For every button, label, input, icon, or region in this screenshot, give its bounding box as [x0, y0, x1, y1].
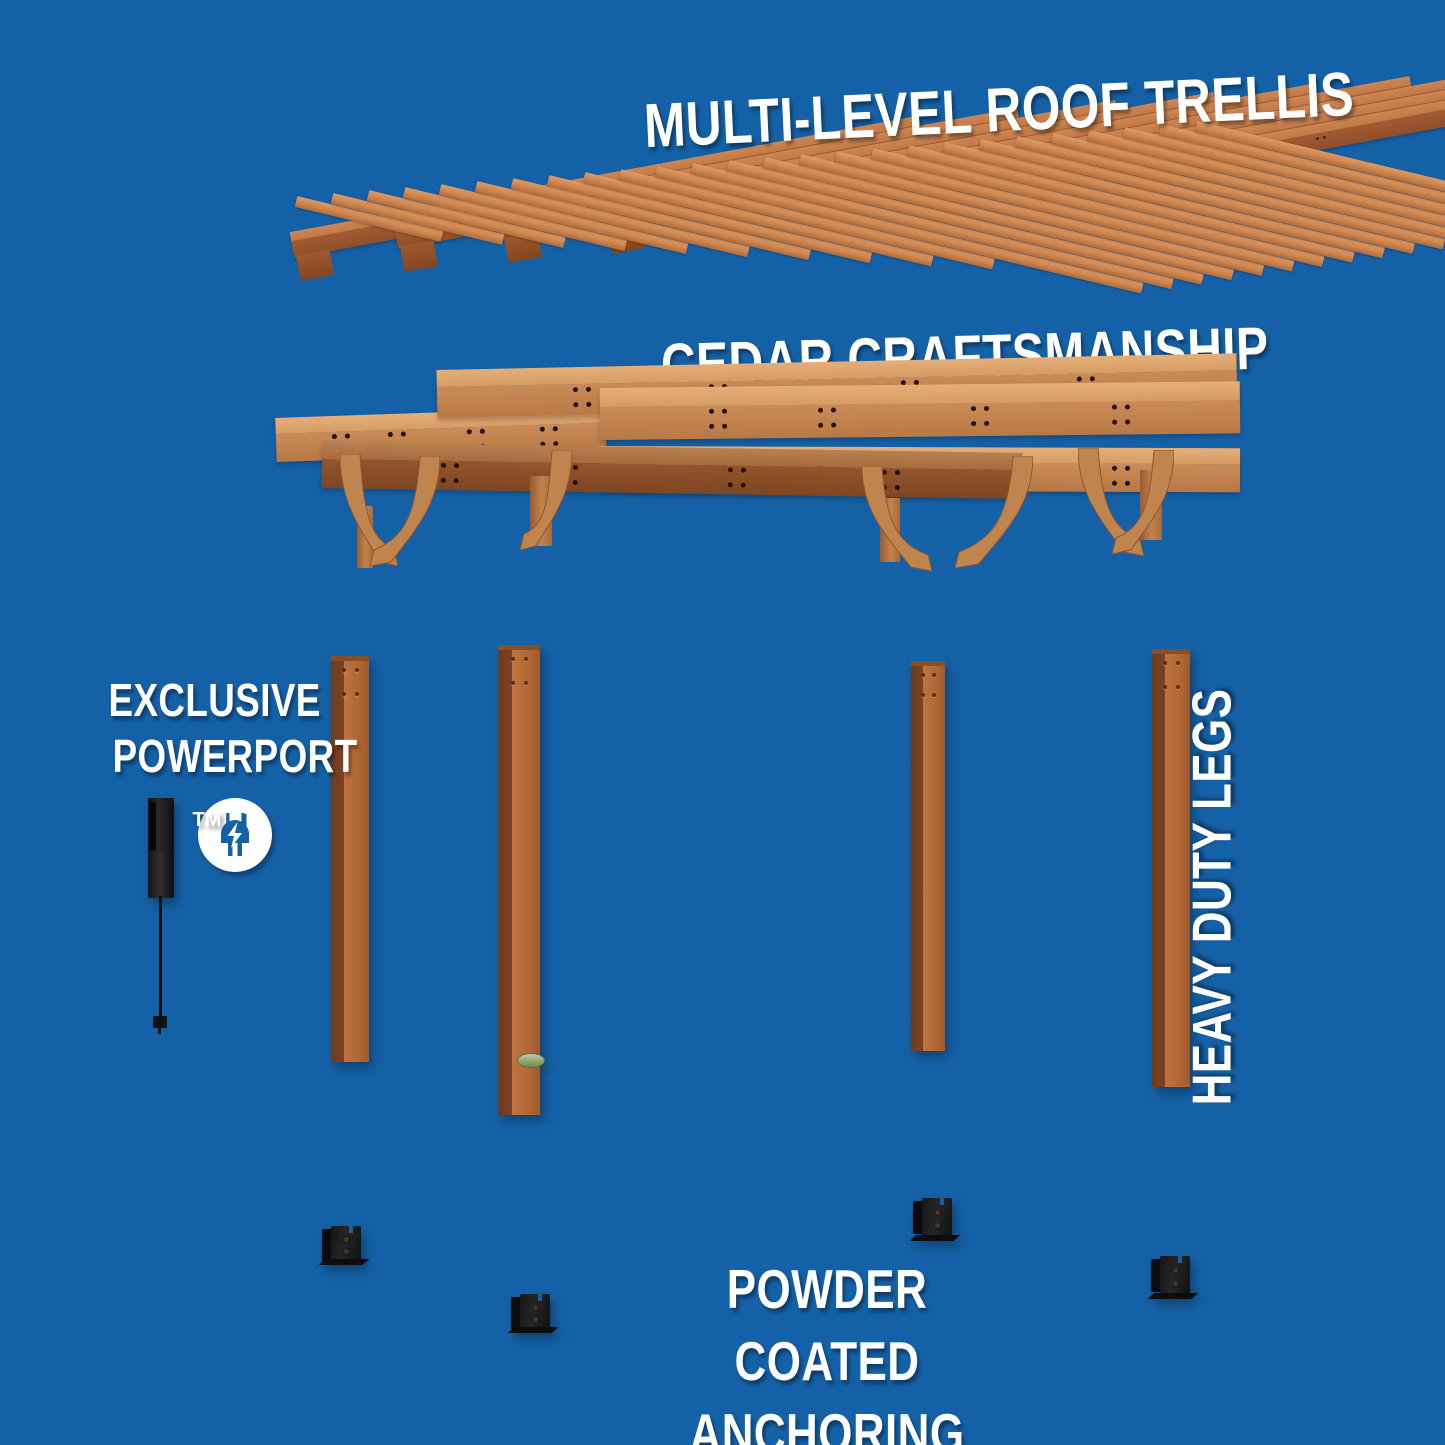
- beam-front-face: [600, 400, 1240, 440]
- beam-bolt: [1112, 419, 1117, 424]
- anchor-plate-bolt: [533, 1305, 538, 1310]
- rafter-notch: [400, 240, 438, 272]
- anchor-plate-bolt: [1173, 1281, 1178, 1286]
- callout-heavy-duty-legs-text: HEAVY DUTY LEGS: [1179, 689, 1243, 1106]
- post-shadow-face: [911, 661, 923, 1051]
- post-shadow-face: [1152, 649, 1165, 1087]
- beam-bolt: [831, 422, 836, 427]
- beam-bolt: [722, 409, 727, 414]
- callout-heavy-duty-legs: HEAVY DUTY LEGS: [1179, 637, 1243, 1158]
- beam-bolt: [971, 421, 976, 426]
- cedar-beam-assembly: [0, 330, 1445, 580]
- trademark-symbol: TM: [193, 809, 222, 831]
- beam-bolt: [709, 409, 714, 414]
- beam-bolt: [818, 422, 823, 427]
- callout-powerport-line2: POWERPORT: [113, 728, 358, 784]
- power-port-cord: [159, 896, 162, 1022]
- anchor-plate-bolt: [344, 1249, 349, 1254]
- post-top-cap: [911, 661, 945, 666]
- callout-anchor-line1: POWDER COATED: [655, 1253, 999, 1397]
- post-top-cap: [331, 656, 369, 661]
- anchoring-plate: [913, 1198, 963, 1244]
- anchor-plate-bolt: [533, 1317, 538, 1322]
- callout-anchor-line2: ANCHORING PLATES: [655, 1397, 999, 1445]
- beam-bolt: [722, 423, 727, 428]
- anchor-plate-body: [520, 1294, 550, 1330]
- callout-powerport-line1: EXCLUSIVE: [109, 672, 321, 728]
- beam-bolt: [984, 421, 989, 426]
- anchor-plate-body: [922, 1198, 952, 1238]
- post-lit-face: [512, 645, 540, 1115]
- corner-brace: [520, 450, 572, 550]
- anchor-plate-base-flange: [508, 1327, 559, 1333]
- beam-bolt: [709, 424, 714, 429]
- beam-bolt: [831, 407, 836, 412]
- post-bolt-holes: [340, 666, 364, 714]
- power-port-plug: [153, 1016, 167, 1028]
- corner-brace: [955, 456, 1033, 568]
- callout-exclusive-powerport: EXCLUSIVE POWERPORTTM: [82, 672, 332, 850]
- post-bolt-holes: [919, 671, 940, 719]
- beam-bolt: [971, 406, 976, 411]
- post-lit-face: [923, 661, 945, 1051]
- heavy-duty-leg-post: [331, 656, 369, 1062]
- anchor-plate-body: [331, 1226, 361, 1262]
- anchoring-plate: [511, 1294, 561, 1338]
- callout-anchoring-plates: POWDER COATED ANCHORING PLATES: [612, 1253, 1042, 1445]
- anchor-plate-slot: [349, 1226, 353, 1233]
- post-shadow-face: [331, 656, 344, 1062]
- beam-bolt: [1125, 419, 1130, 424]
- post-bolt-holes: [508, 655, 534, 703]
- rafter-bolt: [1323, 136, 1326, 139]
- anchor-plate-base-flange: [319, 1259, 370, 1265]
- beam-bolt: [818, 407, 823, 412]
- post-top-cap: [498, 645, 540, 650]
- power-port-lower-housing: [148, 852, 174, 898]
- anchor-plate-bolt: [935, 1223, 940, 1228]
- beam-bolt: [1112, 404, 1117, 409]
- heavy-duty-leg-post: [498, 645, 540, 1115]
- infographic-canvas: MULTI-LEVEL ROOF TRELLIS CEDAR CRAFTSMAN…: [0, 0, 1445, 1445]
- corner-brace: [862, 466, 932, 571]
- heavy-duty-leg-post: [911, 661, 945, 1051]
- anchoring-plate: [322, 1226, 372, 1270]
- anchor-plate-slot: [538, 1294, 542, 1301]
- anchor-plate-bolt: [935, 1210, 940, 1215]
- beam-bolt: [984, 406, 989, 411]
- brand-medallion: [517, 1053, 545, 1068]
- anchor-plate-slot: [940, 1198, 944, 1205]
- post-shadow-face: [498, 645, 512, 1115]
- anchor-plate-slot: [1178, 1256, 1182, 1263]
- anchor-plate-bolt: [344, 1237, 349, 1242]
- anchoring-plate: [1151, 1256, 1201, 1302]
- beam-bolt: [1125, 404, 1130, 409]
- cedar-beam: [600, 381, 1241, 440]
- anchor-plate-base-flange: [910, 1235, 961, 1241]
- anchor-plate-body: [1160, 1256, 1190, 1296]
- rafter-bolt: [1316, 137, 1319, 140]
- rafter-notch: [296, 249, 334, 281]
- corner-brace: [1112, 450, 1174, 554]
- corner-brace: [370, 456, 440, 566]
- post-lit-face: [344, 656, 369, 1062]
- anchor-plate-base-flange: [1148, 1293, 1199, 1299]
- anchor-plate-bolt: [1173, 1268, 1178, 1273]
